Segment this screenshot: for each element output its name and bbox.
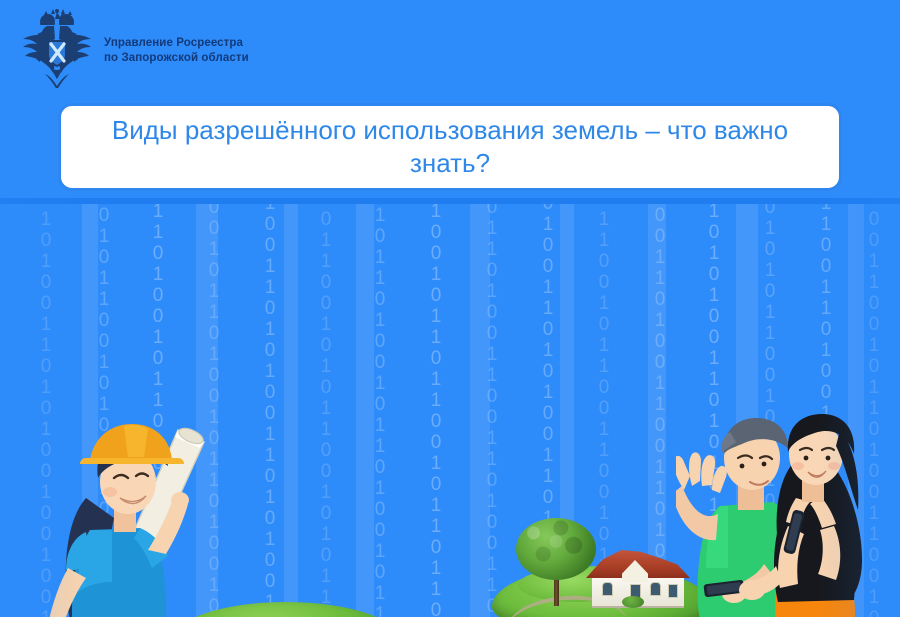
org-name-line2: по Запорожской области [104,51,249,66]
illustration-scene: 0 1 0 1 0 0 1 1 0 1 0 1 0 0 1 0 0 1 0 0 … [0,198,900,617]
title-card: Виды разрешённого использования земель –… [58,103,842,191]
house-window [650,582,661,596]
woman-engineer-with-blueprint [28,412,238,617]
org-name-line1: Управление Росреестра [104,36,249,51]
raised-hand [676,452,727,493]
house-window [602,582,613,596]
house-shrub [622,596,644,608]
binary-column: 0 1 0 1 1 0 1 0 0 1 0 1 1 0 1 0 0 1 0 1 … [372,198,388,617]
poster-title: Виды разрешённого использования земель –… [77,114,823,181]
header-band: Управление Росреестра по Запорожской обл… [0,0,900,98]
tree-crown [516,518,596,580]
binary-column: 0 1 0 0 1 1 0 1 0 1 0 0 1 1 0 1 0 1 0 0 … [262,198,278,617]
infographic-poster: Управление Росреестра по Запорожской обл… [0,0,900,617]
rosreestr-emblem-icon [14,8,100,88]
background-light-band [284,198,298,617]
couple-with-smartphones [676,414,896,617]
binary-column: 1 0 1 1 0 0 1 0 1 0 1 1 0 0 1 0 1 0 1 1 … [318,198,334,617]
binary-column: 1 1 0 0 1 0 1 1 0 1 1 0 0 1 0 1 1 0 1 1 … [428,198,444,617]
binary-column: 0 0 1 1 0 1 0 0 1 1 0 0 1 1 0 1 0 0 1 1 … [484,198,500,617]
scene-top-divider [0,198,900,204]
organization-name: Управление Росреестра по Запорожской обл… [104,36,249,67]
house-icon [586,548,690,610]
